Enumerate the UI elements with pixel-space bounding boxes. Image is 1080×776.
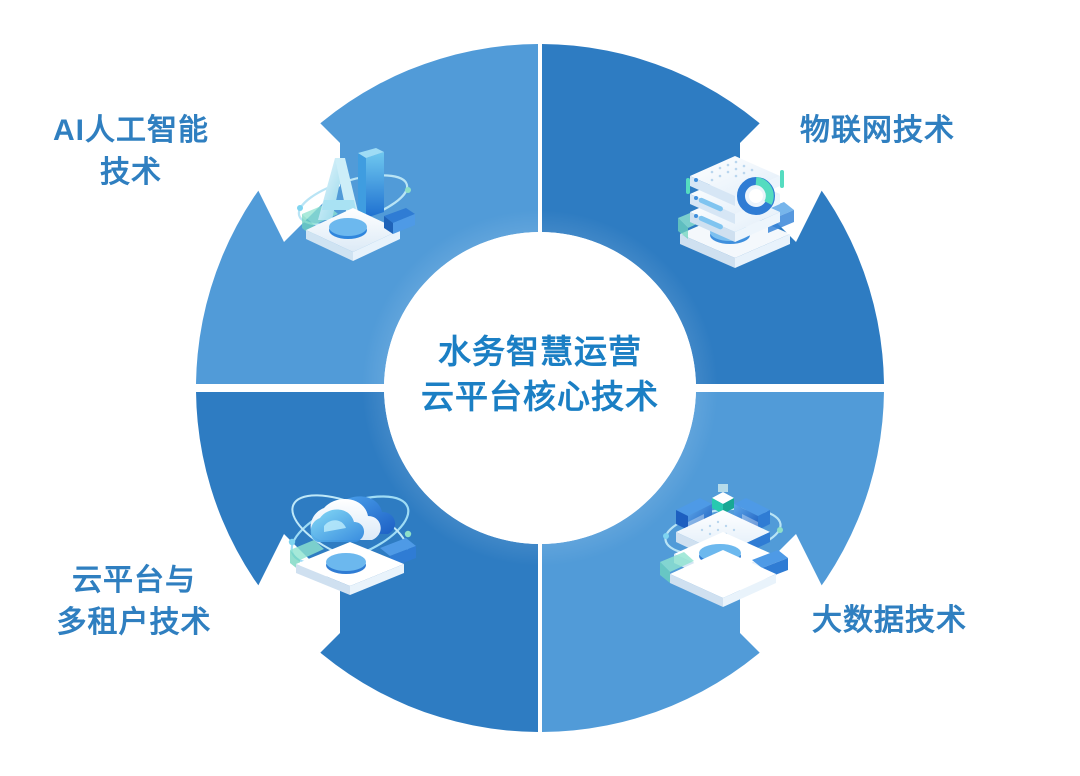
server-stack-icon [668, 140, 803, 275]
cloud-orbit-icon [278, 470, 423, 600]
label-cloud: 云平台与 多租户技术 [0, 560, 268, 644]
label-cloud-line1: 云平台与 [0, 560, 268, 602]
diagram-canvas: 水务智慧运营 云平台核心技术 AI人工智能 技术 物联网技术 云平台与 多租户技… [0, 0, 1080, 776]
label-cloud-line2: 多租户技术 [0, 602, 268, 644]
label-bigdata: 大数据技术 [812, 600, 1062, 642]
label-ai-line2: 技术 [0, 152, 262, 194]
ai-cube-icon [288, 138, 418, 263]
label-iot-line1: 物联网技术 [800, 110, 1050, 152]
data-layers-icon [648, 470, 798, 610]
label-ai: AI人工智能 技术 [0, 110, 262, 194]
label-ai-line1: AI人工智能 [0, 110, 262, 152]
label-bigdata-line1: 大数据技术 [812, 600, 1062, 642]
label-iot: 物联网技术 [800, 110, 1050, 152]
